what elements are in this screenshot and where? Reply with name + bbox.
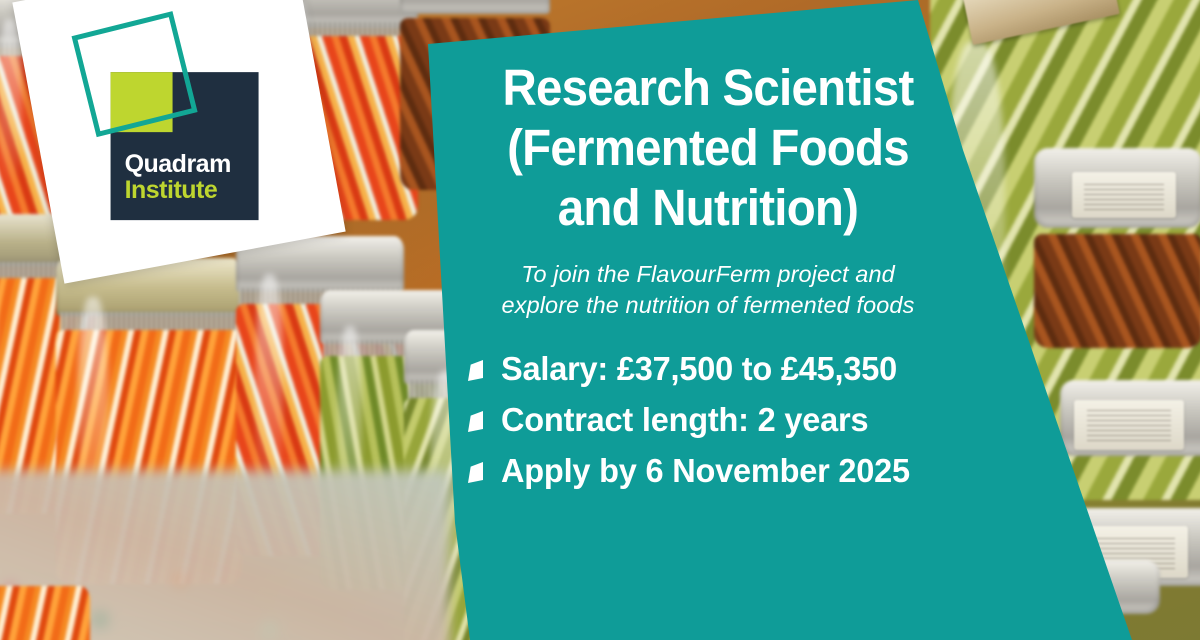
wedge-bullet-icon (468, 462, 483, 483)
panel-content: Research Scientist (Fermented Foods and … (452, 44, 964, 500)
logo-word-institute: Institute (125, 178, 251, 204)
logo-word-quadram: Quadram (125, 152, 251, 178)
list-item: Apply by 6 November 2025 (468, 449, 964, 494)
jar-label-1 (1072, 172, 1176, 218)
wedge-bullet-icon (468, 360, 483, 381)
logo-inner: Quadram Institute (89, 30, 269, 210)
contract-length-text: Contract length: 2 years (501, 398, 868, 443)
list-item: Salary: £37,500 to £45,350 (468, 347, 964, 392)
logo-wordmark: Quadram Institute (125, 152, 251, 203)
wedge-bullet-icon (468, 411, 483, 432)
apply-deadline-text: Apply by 6 November 2025 (501, 449, 910, 494)
list-item: Contract length: 2 years (468, 398, 964, 443)
job-advert-poster: Research Scientist (Fermented Foods and … (0, 0, 1200, 640)
job-title: Research Scientist (Fermented Foods and … (470, 44, 946, 238)
jar-label-2 (1074, 400, 1184, 450)
job-subtitle: To join the FlavourFerm project and expl… (452, 259, 964, 321)
job-details-list: Salary: £37,500 to £45,350 Contract leng… (452, 347, 964, 494)
salary-text: Salary: £37,500 to £45,350 (501, 347, 897, 392)
jar-bottom-left (0, 586, 90, 640)
